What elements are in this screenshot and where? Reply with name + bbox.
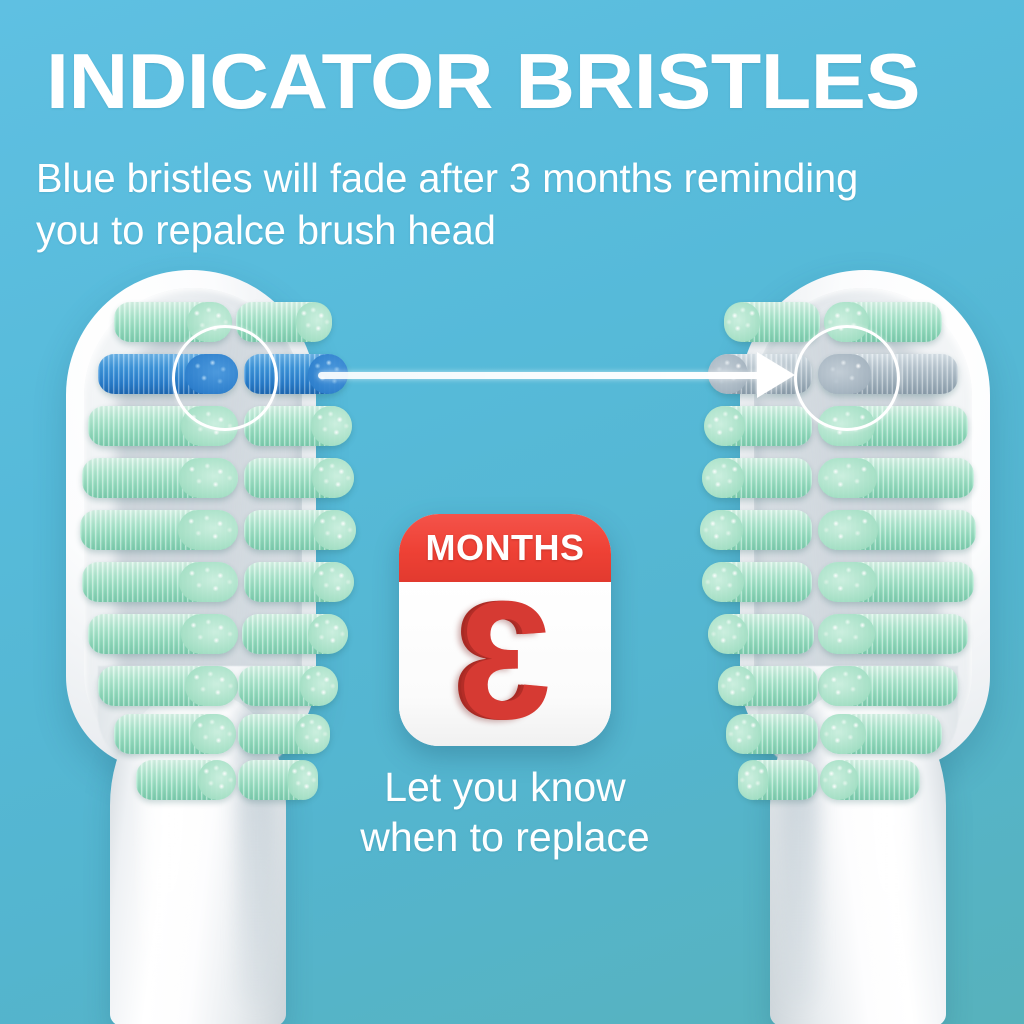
bristle-tuft-tip	[818, 458, 877, 498]
bristle-tuft	[818, 562, 974, 602]
bristle-tuft	[244, 562, 354, 602]
bristle-tuft-tip	[818, 666, 871, 706]
bristle-tuft-tip	[718, 666, 756, 706]
bristle-tuft-tip	[178, 510, 238, 550]
zoom-circle-worn	[794, 325, 900, 431]
bristle-tuft-tip	[820, 714, 866, 754]
page-title: INDICATOR BRISTLES	[46, 46, 1024, 118]
bristle-tuft-tip	[738, 760, 768, 800]
bristle-tuft-tip	[702, 562, 744, 602]
bristle-tuft-tip	[185, 666, 238, 706]
bristle-tuft-tip	[820, 760, 858, 800]
bristle-tuft	[82, 458, 238, 498]
bristle-tuft-tip	[312, 562, 354, 602]
bristle-tuft-tip	[702, 458, 744, 498]
bristle-tuft	[238, 666, 338, 706]
bristle-tuft-tip	[308, 614, 348, 654]
comparison-arrow-line	[318, 372, 790, 379]
bristle-tuft-tip	[700, 510, 743, 550]
bristle-tuft-tip	[179, 562, 238, 602]
bristle-tuft	[704, 406, 812, 446]
bristle-tuft	[818, 510, 976, 550]
subtitle: Blue bristles will fade after 3 months r…	[36, 152, 909, 257]
bristle-tuft-tip	[818, 510, 878, 550]
bristle-tuft	[726, 714, 818, 754]
zoom-circle-new	[172, 325, 278, 431]
bristle-tuft	[702, 458, 812, 498]
bristle-tuft	[114, 714, 236, 754]
bristle-tuft	[244, 510, 356, 550]
bristle-tuft	[98, 666, 238, 706]
bristle-tuft	[82, 562, 238, 602]
bristle-tuft	[238, 760, 318, 800]
calendar-body: 3	[399, 582, 611, 746]
bristle-tuft	[708, 614, 814, 654]
product-infographic: INDICATOR BRISTLES Blue bristles will fa…	[0, 0, 1024, 1024]
bristle-tuft	[80, 510, 238, 550]
bristle-tuft	[738, 760, 818, 800]
bristle-tuft-tip	[726, 714, 761, 754]
caption-line-1: Let you know	[330, 762, 680, 812]
bristle-tuft	[244, 458, 354, 498]
bristle-tuft-tip	[704, 406, 745, 446]
calendar-months-label: MONTHS	[426, 527, 585, 569]
bristle-tuft-tip	[818, 562, 877, 602]
bristle-tuft	[242, 614, 348, 654]
bristle-tuft-tip	[818, 614, 875, 654]
bristle-tuft-tip	[181, 614, 238, 654]
bristle-tuft	[136, 760, 236, 800]
bristle-tuft	[820, 714, 942, 754]
bristle-tuft-tip	[311, 406, 352, 446]
bristle-tuft-tip	[300, 666, 338, 706]
bristle-tuft	[724, 302, 820, 342]
comparison-arrow-head	[757, 352, 795, 398]
bristle-tuft-tip	[198, 760, 236, 800]
bristle-tuft	[702, 562, 812, 602]
caption-line-2: when to replace	[330, 812, 680, 862]
bristle-tuft-tip	[179, 458, 238, 498]
bristle-tuft-tip	[190, 714, 236, 754]
subtitle-line-1: Blue bristles will fade after 3 months r…	[36, 152, 909, 204]
bristle-tuft-tip	[724, 302, 760, 342]
bristle-tuft	[818, 614, 968, 654]
badge-caption: Let you know when to replace	[330, 762, 680, 862]
bristle-tuft	[88, 614, 238, 654]
bristle-tuft-tip	[708, 614, 748, 654]
bristle-tuft	[818, 458, 974, 498]
bristle-tuft-tip	[313, 510, 356, 550]
bristle-tuft	[718, 666, 818, 706]
months-calendar-badge: MONTHS 3	[399, 514, 611, 746]
bristle-tuft	[818, 666, 958, 706]
bristle-tuft	[820, 760, 920, 800]
bristle-tuft-tip	[312, 458, 354, 498]
subtitle-line-2: you to repalce brush head	[36, 204, 909, 256]
bristle-tuft	[700, 510, 812, 550]
bristle-tuft-tip	[296, 302, 332, 342]
calendar-number: 3	[458, 576, 551, 744]
bristle-tuft	[238, 714, 330, 754]
bristle-tuft-tip	[288, 760, 318, 800]
bristle-tuft-tip	[295, 714, 330, 754]
